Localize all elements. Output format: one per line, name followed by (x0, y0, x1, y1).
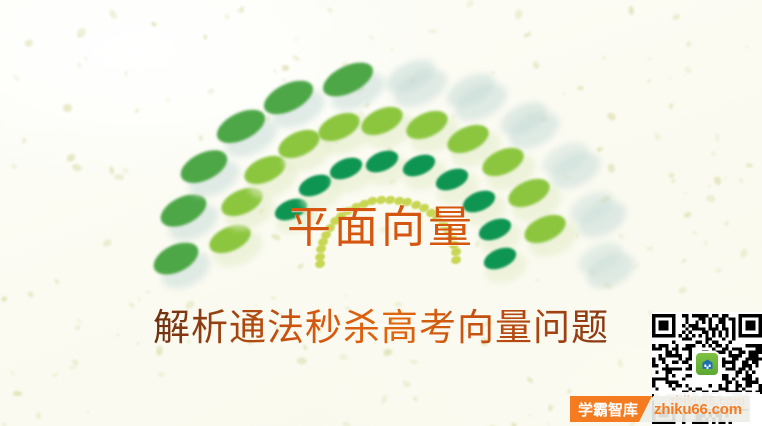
watermark-brand-label: 学霸智库 (570, 396, 652, 422)
video-slide: 平面向量 解析通法秒杀高考向量问题 zhiku66.com 学霸智库 zhiku… (0, 0, 762, 426)
slide-title: 平面向量 (0, 206, 762, 250)
watermark-banner: 学霸智库 zhiku66.com (570, 396, 750, 422)
qr-center-logo-icon (694, 351, 720, 377)
slide-subtitle: 解析通法秒杀高考向量问题 (0, 308, 762, 349)
watermark-url-label: zhiku66.com (640, 396, 750, 422)
